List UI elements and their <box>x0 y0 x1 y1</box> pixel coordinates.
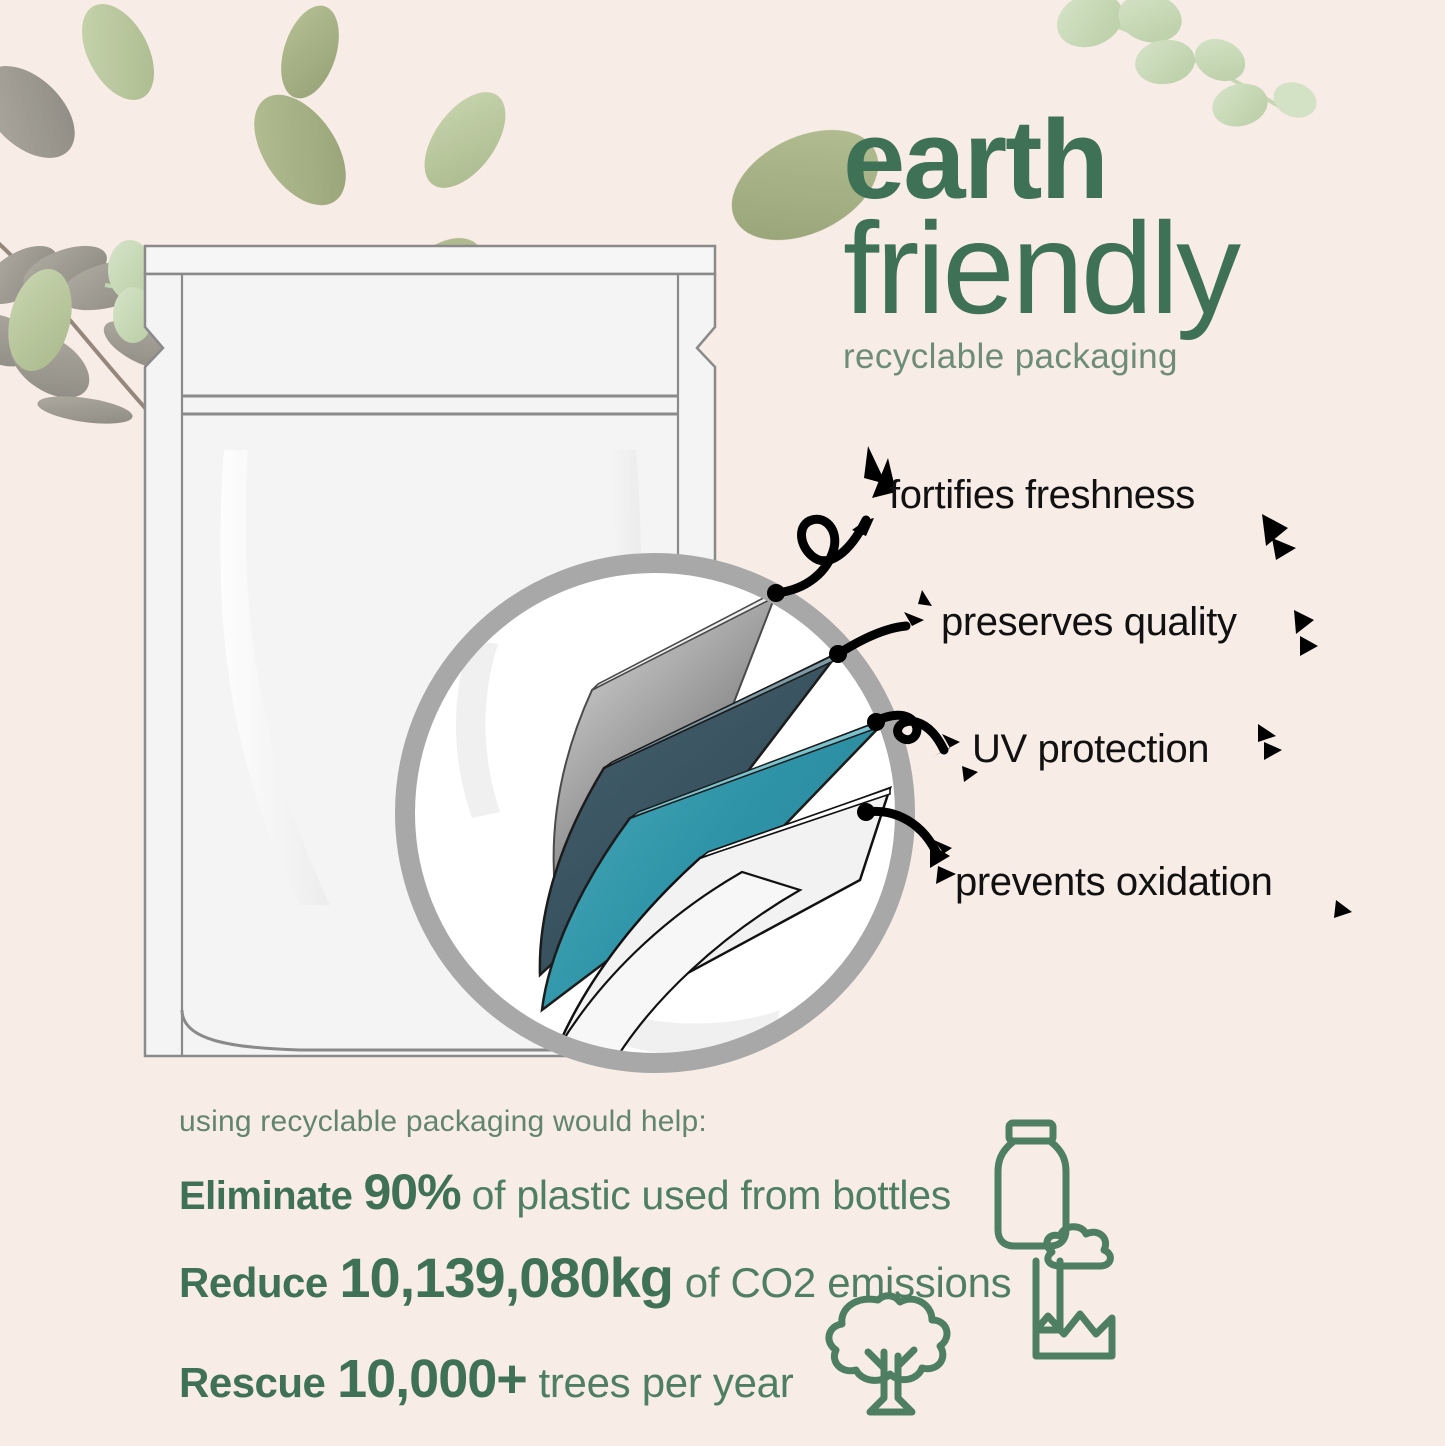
factory-icon <box>1036 1227 1112 1356</box>
tree-icon <box>829 1296 947 1412</box>
infographic-canvas: earth friendly recyclable packaging fort… <box>0 0 1445 1446</box>
stat-icons <box>0 0 1445 1446</box>
bottle-icon <box>998 1123 1066 1246</box>
